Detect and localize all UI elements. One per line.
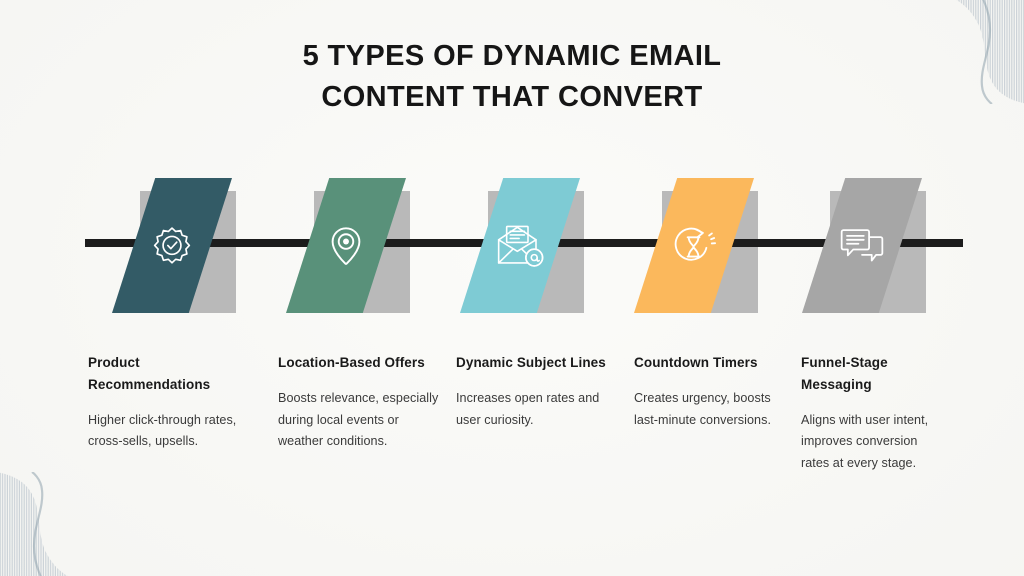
caption-description: Creates urgency, boosts last-minute conv…	[634, 388, 774, 431]
location-pin-icon	[286, 178, 406, 313]
caption-title: Countdown Timers	[634, 352, 774, 374]
chat-bubbles-icon	[802, 178, 922, 313]
caption-location-based-offers: Location-Based Offers Boosts relevance, …	[278, 352, 443, 453]
caption-description: Increases open rates and user curiosity.	[456, 388, 606, 431]
caption-dynamic-subject-lines: Dynamic Subject Lines Increases open rat…	[456, 352, 606, 431]
caption-countdown-timers: Countdown Timers Creates urgency, boosts…	[634, 352, 774, 431]
caption-title: Location-Based Offers	[278, 352, 443, 374]
caption-description: Higher click-through rates, cross-sells,…	[88, 410, 248, 453]
badge-check-icon	[112, 178, 232, 313]
caption-funnel-stage-messaging: Funnel-Stage Messaging Aligns with user …	[801, 352, 946, 475]
envelope-subject-icon	[460, 178, 580, 313]
caption-title: Funnel-Stage Messaging	[801, 352, 946, 396]
caption-title: Dynamic Subject Lines	[456, 352, 606, 374]
hourglass-timer-icon	[634, 178, 754, 313]
caption-description: Boosts relevance, especially during loca…	[278, 388, 443, 453]
caption-title: Product Recommendations	[88, 352, 248, 396]
caption-product-recommendations: Product Recommendations Higher click-thr…	[88, 352, 248, 453]
steps-container	[0, 0, 1024, 576]
infographic-canvas: 5 TYPES OF DYNAMIC EMAIL CONTENT THAT CO…	[0, 0, 1024, 576]
caption-description: Aligns with user intent, improves conver…	[801, 410, 946, 475]
